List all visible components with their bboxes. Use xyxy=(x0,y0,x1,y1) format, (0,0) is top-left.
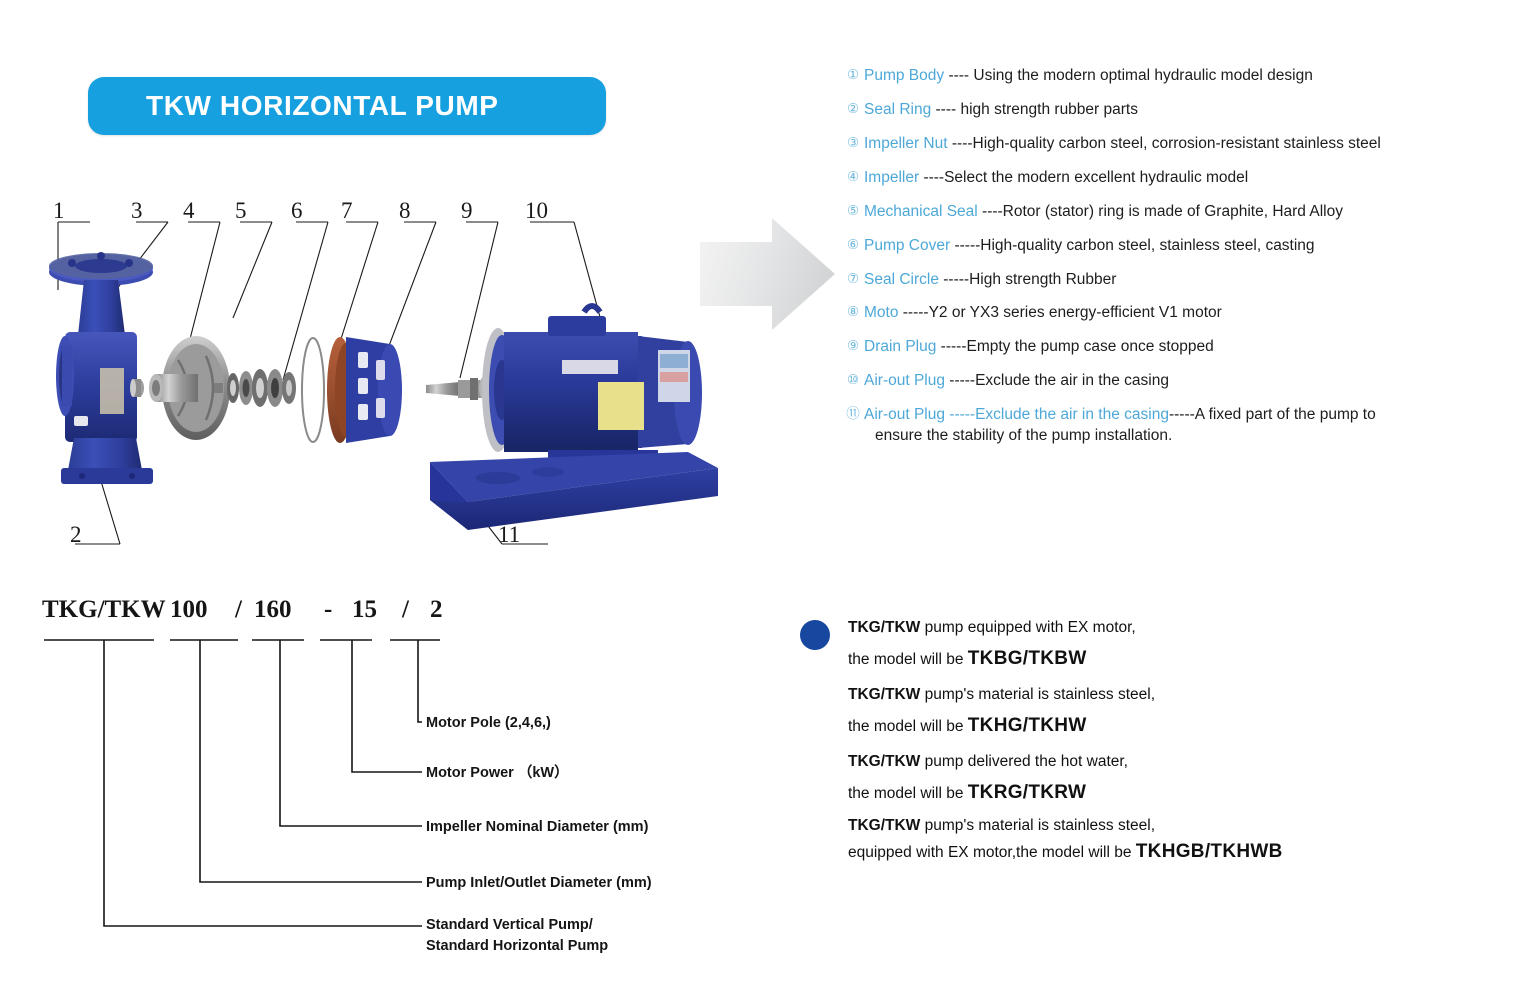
part-label: Air-out Plug xyxy=(864,406,945,423)
part-label: Drain Plug xyxy=(864,338,936,355)
part-label: Mechanical Seal xyxy=(864,203,978,220)
note-line: TKG/TKW pump's material is stainless ste… xyxy=(848,813,1420,839)
part-description: -----Empty the pump case once stopped xyxy=(936,338,1213,355)
note-model-code: TKHGB/TKHWB xyxy=(1136,841,1283,862)
breakdown-label-pump-type-line2: Standard Horizontal Pump xyxy=(426,936,608,957)
part-number: ⑪ xyxy=(842,405,864,422)
part-list-item: ⑤ Mechanical Seal ----Rotor (stator) rin… xyxy=(842,202,1502,223)
breakdown-label-impeller-diameter: Impeller Nominal Diameter (mm) xyxy=(426,817,648,838)
callout-number: 4 xyxy=(183,198,195,224)
part-description: ----Select the modern excellent hydrauli… xyxy=(919,169,1248,186)
note-line-rest: pump's material is stainless steel, xyxy=(920,686,1155,703)
note-line-rest: pump's material is stainless steel, xyxy=(920,817,1155,834)
part-description: ----High-quality carbon steel, corrosion… xyxy=(948,135,1381,152)
part-description: -----High-quality carbon steel, stainles… xyxy=(950,237,1314,254)
callout-number: 10 xyxy=(525,198,548,224)
part-label: Seal Ring xyxy=(864,101,931,118)
seal-circle-part xyxy=(302,338,324,442)
part-list-item: ① Pump Body ---- Using the modern optima… xyxy=(842,66,1502,87)
part-list-item: ⑩ Air-out Plug -----Exclude the air in t… xyxy=(842,371,1502,392)
part-description-blue: -----Exclude the air in the casing xyxy=(945,406,1169,423)
breakdown-label-motor-pole: Motor Pole (2,4,6,) xyxy=(426,713,551,734)
note-line-rest: pump equipped with EX motor, xyxy=(920,619,1135,636)
part-label: Pump Body xyxy=(864,67,944,84)
note-line-pre: the model will be xyxy=(848,718,968,735)
part-description: -----Y2 or YX3 series energy-efficient V… xyxy=(898,304,1221,321)
note-line-pre: the model will be xyxy=(848,785,968,802)
flow-arrow xyxy=(700,218,835,330)
part-number: ⑨ xyxy=(842,337,864,354)
part-list-item: ⑧ Moto -----Y2 or YX3 series energy-effi… xyxy=(842,303,1502,324)
note-block: TKG/TKW pump's material is stainless ste… xyxy=(848,813,1420,866)
part-number: ⑥ xyxy=(842,236,864,253)
part-label: Seal Circle xyxy=(864,271,939,288)
note-line-pre: the model will be xyxy=(848,651,968,668)
note-line-pre: equipped with EX motor,the model will be xyxy=(848,844,1136,861)
part-number: ④ xyxy=(842,168,864,185)
part-number: ⑧ xyxy=(842,303,864,320)
part-list-item: ③ Impeller Nut ----High-quality carbon s… xyxy=(842,134,1502,155)
part-label: Pump Cover xyxy=(864,237,950,254)
part-number: ⑩ xyxy=(842,371,864,388)
part-number: ② xyxy=(842,100,864,117)
part-description-continued: ensure the stability of the pump install… xyxy=(875,426,1502,447)
part-label: Air-out Plug xyxy=(864,372,945,389)
pump-body-part xyxy=(49,252,153,484)
note-line: TKG/TKW pump equipped with EX motor, xyxy=(848,612,1420,643)
note-model-code: TKRG/TKRW xyxy=(968,782,1086,803)
pump-assembly-illustration xyxy=(28,200,718,580)
impeller-nut-part xyxy=(130,379,144,397)
bullet-point-icon xyxy=(800,620,830,650)
part-description: ---- high strength rubber parts xyxy=(931,101,1138,118)
callout-number: 9 xyxy=(461,198,473,224)
callout-number: 11 xyxy=(498,522,520,548)
breakdown-label-inlet-diameter: Pump Inlet/Outlet Diameter (mm) xyxy=(426,873,652,894)
part-number: ③ xyxy=(842,134,864,151)
note-block: TKG/TKW pump delivered the hot water, th… xyxy=(848,746,1420,809)
note-line: the model will be TKBG/TKBW xyxy=(848,643,1420,675)
parts-description-list: ① Pump Body ---- Using the modern optima… xyxy=(842,66,1502,460)
note-line-rest: pump delivered the hot water, xyxy=(920,753,1128,770)
part-number: ① xyxy=(842,66,864,83)
callout-number: 7 xyxy=(341,198,353,224)
note-block: TKG/TKW pump's material is stainless ste… xyxy=(848,679,1420,742)
base-plate-part xyxy=(430,452,718,530)
note-line: the model will be TKHG/TKHW xyxy=(848,710,1420,742)
pump-cover-part xyxy=(327,337,402,443)
note-line-pre: TKG/TKW xyxy=(848,817,920,834)
breakdown-label-pump-type-line1: Standard Vertical Pump/ xyxy=(426,915,593,936)
part-description: -----A fixed part of the pump to xyxy=(1169,406,1376,423)
part-description: -----High strength Rubber xyxy=(939,271,1116,288)
callout-number: 5 xyxy=(235,198,247,224)
part-description: ----Rotor (stator) ring is made of Graph… xyxy=(978,203,1343,220)
note-line-pre: TKG/TKW xyxy=(848,753,920,770)
callout-number: 6 xyxy=(291,198,303,224)
part-list-item: ④ Impeller ----Select the modern excelle… xyxy=(842,168,1502,189)
page-title: TKW HORIZONTAL PUMP xyxy=(146,90,499,122)
part-label: Moto xyxy=(864,304,898,321)
motor-part xyxy=(482,306,702,464)
callout-number: 2 xyxy=(70,522,82,548)
note-line-pre: TKG/TKW xyxy=(848,686,920,703)
part-list-item: ⑨ Drain Plug -----Empty the pump case on… xyxy=(842,337,1502,358)
callout-number: 8 xyxy=(399,198,411,224)
part-description: -----Exclude the air in the casing xyxy=(945,372,1169,389)
part-number: ⑦ xyxy=(842,270,864,287)
note-line: TKG/TKW pump's material is stainless ste… xyxy=(848,679,1420,710)
note-line: the model will be TKRG/TKRW xyxy=(848,777,1420,809)
part-description: ---- Using the modern optimal hydraulic … xyxy=(944,67,1313,84)
model-code-breakdown: TKG/TKW 100 / 160 - 15 / 2 Motor Pole (2… xyxy=(42,596,722,976)
note-model-code: TKBG/TKBW xyxy=(968,648,1087,669)
part-label: Impeller Nut xyxy=(864,135,948,152)
part-list-item: ⑥ Pump Cover -----High-quality carbon st… xyxy=(842,236,1502,257)
breakdown-leader-lines xyxy=(42,596,722,976)
note-line: TKG/TKW pump delivered the hot water, xyxy=(848,746,1420,777)
part-label: Impeller xyxy=(864,169,919,186)
part-list-item: ⑦ Seal Circle -----High strength Rubber xyxy=(842,270,1502,291)
exploded-pump-diagram: 1 3 4 5 6 7 8 9 10 2 11 xyxy=(28,200,718,580)
callout-number: 1 xyxy=(53,198,65,224)
breakdown-label-motor-power: Motor Power （kW） xyxy=(426,763,569,784)
part-list-item: ⑪ Air-out Plug -----Exclude the air in t… xyxy=(842,405,1502,447)
part-list-item: ② Seal Ring ---- high strength rubber pa… xyxy=(842,100,1502,121)
right-arrow-icon xyxy=(700,218,835,330)
note-model-code: TKHG/TKHW xyxy=(968,715,1087,736)
callout-number: 3 xyxy=(131,198,143,224)
part-number: ⑤ xyxy=(842,202,864,219)
note-block: TKG/TKW pump equipped with EX motor, the… xyxy=(848,612,1420,675)
note-line-pre: TKG/TKW xyxy=(848,619,920,636)
note-line: equipped with EX motor,the model will be… xyxy=(848,839,1420,866)
model-variant-notes: TKG/TKW pump equipped with EX motor, the… xyxy=(800,612,1420,870)
page-title-banner: TKW HORIZONTAL PUMP xyxy=(88,77,606,135)
